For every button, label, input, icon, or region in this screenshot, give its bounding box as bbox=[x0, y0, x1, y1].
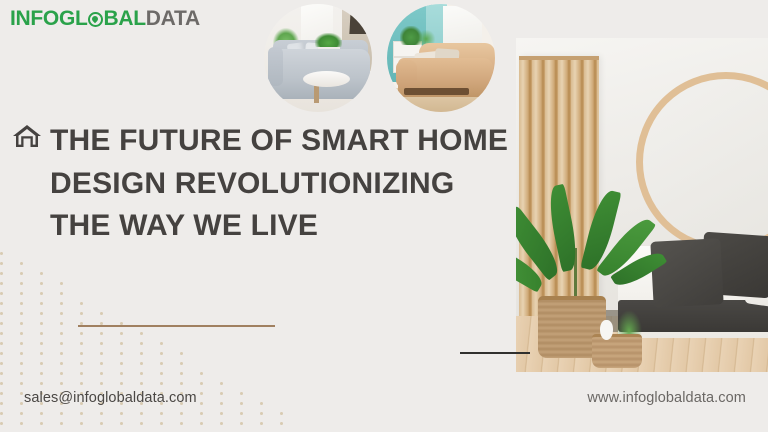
brand-logo[interactable]: INFOGLBALDATA bbox=[10, 8, 200, 29]
contact-email[interactable]: sales@infoglobaldata.com bbox=[24, 390, 197, 406]
tan-divider-line bbox=[78, 325, 275, 327]
headline-line-3: THE WAY WE LIVE bbox=[12, 205, 532, 248]
logo-text-bal: BAL bbox=[104, 7, 146, 30]
headline-line-1: THE FUTURE OF SMART HOME bbox=[12, 120, 532, 163]
headline-text-2: DESIGN REVOLUTIONIZING bbox=[50, 163, 454, 206]
globe-o-icon bbox=[88, 12, 103, 27]
home-icon bbox=[12, 120, 42, 163]
headline-text-3: THE WAY WE LIVE bbox=[50, 205, 318, 248]
dark-divider-line bbox=[460, 352, 530, 354]
wicker-tray bbox=[592, 334, 642, 368]
white-vase bbox=[600, 320, 613, 340]
headline-line-2: DESIGN REVOLUTIONIZING bbox=[12, 163, 532, 206]
page-title: THE FUTURE OF SMART HOME DESIGN REVOLUTI… bbox=[12, 120, 532, 248]
headline-text-1: THE FUTURE OF SMART HOME bbox=[50, 120, 508, 163]
website-url[interactable]: www.infoglobaldata.com bbox=[587, 390, 746, 406]
logo-text-infogl: INFOGL bbox=[10, 7, 88, 30]
circle-image-tan-sofa bbox=[387, 4, 495, 112]
hero-image-modern-living-room bbox=[516, 38, 768, 372]
logo-text-data: DATA bbox=[146, 7, 200, 30]
circle-image-grey-sofa bbox=[264, 4, 372, 112]
